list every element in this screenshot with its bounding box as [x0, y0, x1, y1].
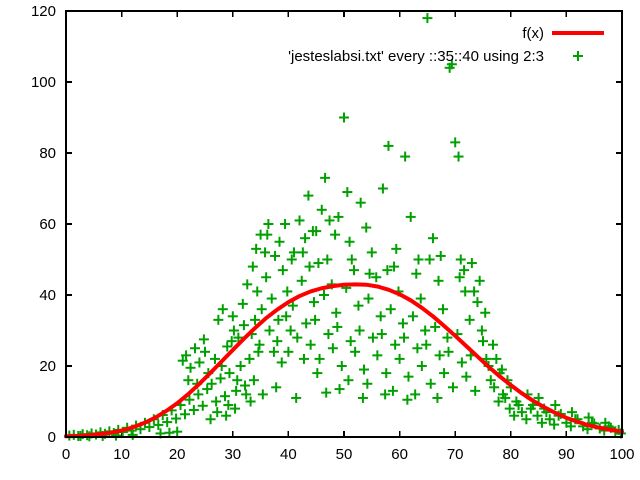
x-tick-label: 60	[391, 446, 408, 463]
gnuplot-chart: 020406080100120 0102030405060708090100 f…	[0, 0, 640, 480]
y-tick-label: 80	[39, 145, 56, 162]
y-tick-label: 100	[31, 74, 56, 91]
y-tick-label: 0	[48, 429, 56, 446]
x-tick-label: 70	[447, 446, 464, 463]
x-tick-label: 20	[169, 446, 186, 463]
plot-canvas: 020406080100120 0102030405060708090100 f…	[0, 0, 640, 480]
y-tick-label: 20	[39, 358, 56, 375]
x-tick-label: 90	[558, 446, 575, 463]
y-tick-label: 40	[39, 287, 56, 304]
x-tick-label: 80	[502, 446, 519, 463]
x-tick-label: 0	[62, 446, 70, 463]
x-tick-label: 30	[224, 446, 241, 463]
x-tick-label: 10	[113, 446, 130, 463]
x-tick-label: 50	[336, 446, 353, 463]
legend-label: f(x)	[522, 25, 544, 42]
y-tick-label: 120	[31, 3, 56, 20]
y-tick-label: 60	[39, 216, 56, 233]
x-tick-label: 100	[609, 446, 634, 463]
x-tick-label: 40	[280, 446, 297, 463]
legend-label: 'jesteslabsi.txt' every ::35::40 using 2…	[288, 48, 544, 65]
